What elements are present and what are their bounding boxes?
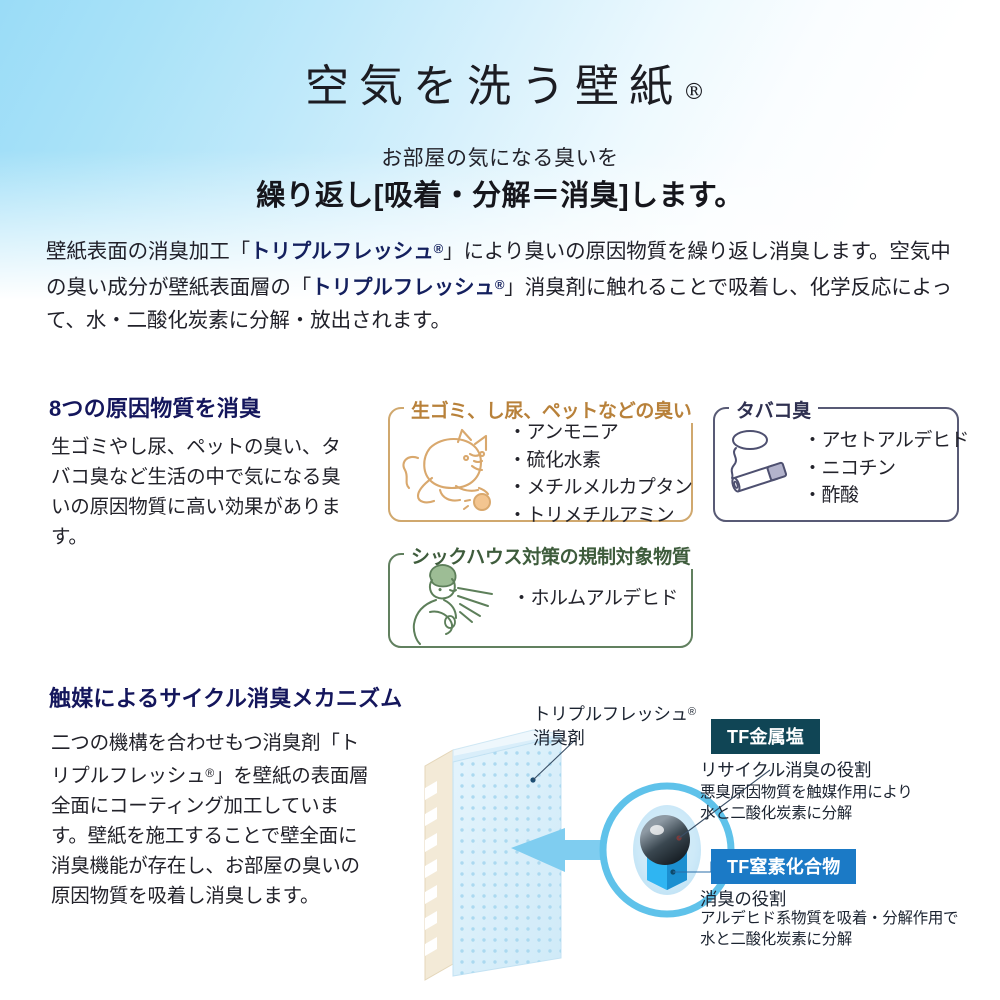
odor-box-sickhouse-items: ・ホルムアルデヒド — [512, 585, 678, 613]
registered-mark-icon: ® — [688, 706, 696, 718]
list-item: ・ニコチン — [803, 455, 969, 483]
list-item: ・酢酸 — [803, 482, 969, 510]
cat-icon — [396, 428, 502, 512]
registered-mark-icon: ® — [683, 80, 705, 105]
badge-tf-metal-salt: TF金属塩 — [711, 719, 820, 754]
intro-part-1: 壁紙表面の消臭加工「 — [46, 240, 250, 263]
odor-box-organic-items: ・アンモニア ・硫化水素 ・メチルメルカプタン ・トリメチルアミン — [508, 419, 692, 529]
brand-text-1: トリプルフレッシュ — [250, 240, 434, 263]
page-title-text: 空気を洗う壁紙 — [305, 61, 683, 112]
coughing-person-icon — [400, 560, 508, 646]
tagline-headline: 繰り返し[吸着・分解＝消臭]します。 — [0, 172, 1000, 214]
list-item: ・トリメチルアミン — [508, 502, 692, 530]
callout-metal-title: リサイクル消臭の役割 — [700, 757, 871, 782]
cigarette-icon — [720, 428, 798, 500]
odor-box-tobacco-legend: タバコ臭 — [729, 396, 818, 423]
list-item: ・アンモニア — [508, 419, 692, 447]
tagline-subtitle: お部屋の気になる臭いを — [0, 142, 1000, 172]
list-item: ・ホルムアルデヒド — [512, 585, 678, 613]
list-item: ・アセトアルデヒド — [803, 427, 969, 455]
callout-nitro-body-line1: アルデヒド系物質を吸着・分解作用で — [700, 908, 958, 929]
agent-label-line1: トリプルフレッシュ — [533, 704, 688, 724]
registered-mark-icon: ® — [495, 277, 504, 292]
intro-paragraph: 壁紙表面の消臭加工「トリプルフレッシュ®」により臭いの原因物質を繰り返し消臭しま… — [46, 232, 956, 337]
brand-name-1: トリプルフレッシュ® — [250, 240, 443, 263]
brand-name-2: トリプルフレッシュ® — [311, 276, 504, 299]
page-title: 空気を洗う壁紙® — [0, 50, 1000, 114]
callout-metal-body-line2: 水と二酸化炭素に分解 — [700, 803, 913, 824]
list-item: ・硫化水素 — [508, 447, 692, 475]
brand-text-2: トリプルフレッシュ — [311, 276, 495, 299]
list-item: ・メチルメルカプタン — [508, 474, 692, 502]
infographic-page: 空気を洗う壁紙® お部屋の気になる臭いを 繰り返し[吸着・分解＝消臭]します。 … — [0, 0, 1000, 1000]
callout-nitro-body-line2: 水と二酸化炭素に分解 — [700, 929, 958, 950]
section-heading-odor: 8つの原因物質を消臭 — [49, 391, 261, 423]
agent-label: トリプルフレッシュ®消臭剤 — [533, 700, 696, 750]
mechanism-diagram: トリプルフレッシュ®消臭剤 TF金属塩 リサイクル消臭の役割 悪臭原因物質を触媒… — [415, 700, 1000, 980]
odor-box-tobacco-items: ・アセトアルデヒド ・ニコチン ・酢酸 — [803, 427, 969, 510]
agent-label-line2: 消臭剤 — [533, 728, 585, 748]
callout-metal-body-line1: 悪臭原因物質を触媒作用により — [700, 782, 913, 803]
section-body-mechanism: 二つの機構を合わせもつ消臭剤「トリプルフレッシュ®」を壁紙の表面層全面にコーティ… — [51, 728, 371, 911]
section-body-odor: 生ゴミやし尿、ペットの臭い、タバコ臭など生活の中で気になる臭いの原因物質に高い効… — [51, 432, 351, 552]
registered-mark-icon: ® — [434, 241, 443, 256]
callout-metal-body: 悪臭原因物質を触媒作用により 水と二酸化炭素に分解 — [700, 782, 913, 824]
badge-tf-nitrogen-compound: TF窒素化合物 — [711, 849, 856, 884]
registered-mark-icon: ® — [205, 766, 214, 780]
callout-nitro-body: アルデヒド系物質を吸着・分解作用で 水と二酸化炭素に分解 — [700, 908, 958, 950]
section-heading-mechanism: 触媒によるサイクル消臭メカニズム — [49, 681, 402, 713]
